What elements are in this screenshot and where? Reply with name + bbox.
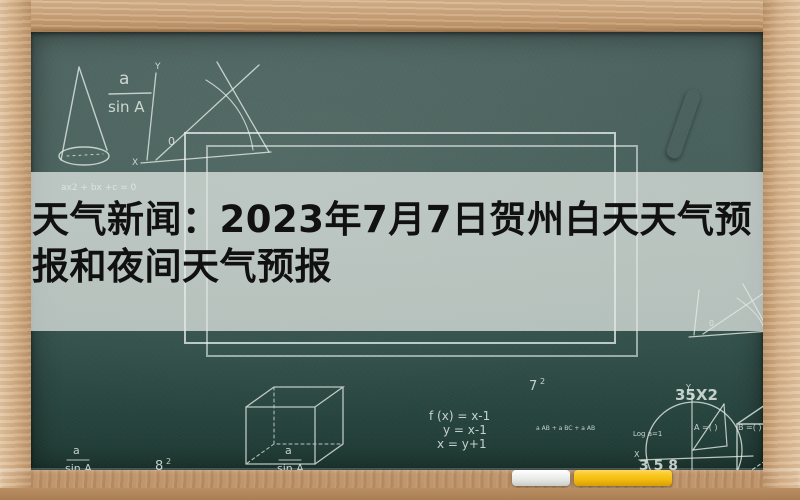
chalk-ledge-shadow: [0, 488, 800, 500]
label-35x2: 35X2: [675, 386, 718, 404]
axis-y-label: Y: [154, 62, 161, 72]
exponent-two-b: 2: [166, 457, 171, 466]
page-title: 天气新闻：2023年7月7日贺州白天天气预报和夜间天气预报: [32, 196, 777, 290]
cube-drawing-center: [246, 387, 343, 464]
fraction-bottom-left: a sin A: [65, 444, 92, 470]
frame-left-rail: [0, 0, 31, 500]
frame-right-rail: [763, 0, 800, 500]
small-equation: a AB + a BC + a AB: [536, 425, 595, 432]
power-seven: 7: [529, 379, 537, 394]
axis-x-label: X: [132, 158, 138, 168]
fraction-bottom-center: a sin A: [277, 444, 304, 470]
fraction-denominator: sin A: [108, 98, 145, 116]
angle-label: 0: [168, 135, 175, 148]
svg-text:a: a: [73, 444, 80, 457]
cone-drawing: [59, 67, 109, 165]
function-definitions: f (x) = x-1 y = x-1 x = y+1: [429, 409, 490, 451]
frame-top-rail: [0, 0, 800, 32]
svg-text:f (x) = x-1: f (x) = x-1: [429, 409, 490, 423]
blackboard-banner: a sin A ax2 + bx +c = 0 Y X 0: [0, 0, 800, 500]
svg-text:x = y+1: x = y+1: [437, 437, 487, 451]
exponent-two: 2: [540, 377, 545, 386]
fraction-numerator: a: [119, 69, 129, 89]
svg-text:Y: Y: [685, 383, 691, 392]
svg-text:X: X: [634, 450, 640, 459]
svg-text:a: a: [285, 444, 292, 457]
svg-text:y = x-1: y = x-1: [443, 423, 487, 437]
fraction-bar: [109, 93, 151, 94]
